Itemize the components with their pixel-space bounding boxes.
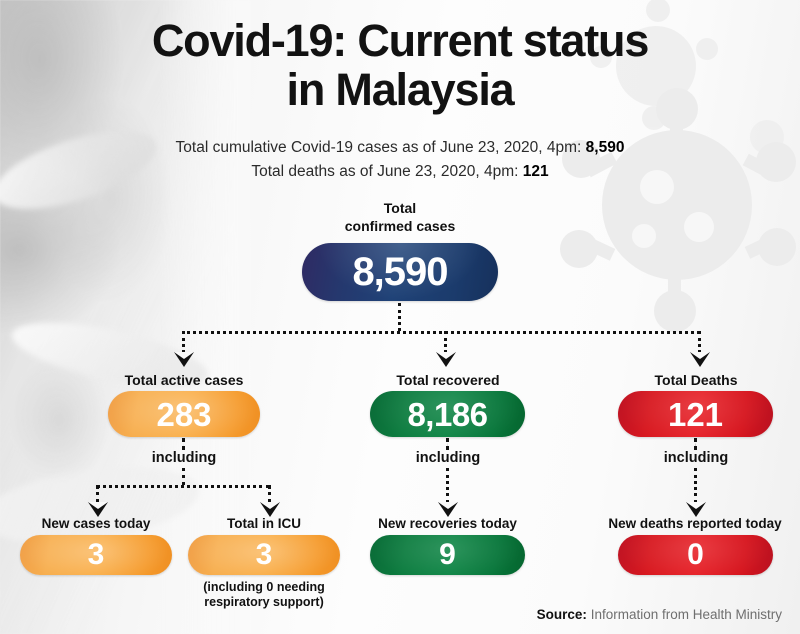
arrow-icu xyxy=(260,502,280,517)
total-confirmed-cases-caption-line-1: Total xyxy=(280,199,520,217)
new-cases-today-caption: New cases today xyxy=(20,516,172,531)
total-in-icu-note-line-2: respiratory support) xyxy=(184,595,344,610)
total-deaths-value: 121 xyxy=(668,398,723,431)
new-deaths-today-pill: 0 xyxy=(618,535,773,575)
connector-deaths-to-including xyxy=(694,438,697,450)
subtitle-line-2: Total deaths as of June 23, 2020, 4pm: 1… xyxy=(0,160,800,184)
active-including-label: including xyxy=(104,450,264,466)
total-in-icu-pill: 3 xyxy=(188,535,340,575)
total-recovered-value: 8,186 xyxy=(407,398,487,431)
arrow-new-cases xyxy=(88,502,108,517)
new-deaths-today-value: 0 xyxy=(687,540,704,570)
connector-active-stem xyxy=(182,468,185,485)
subtitle: Total cumulative Covid-19 cases as of Ju… xyxy=(0,136,800,184)
connector-root-horizontal xyxy=(182,331,700,334)
connector-new-cases-down xyxy=(96,485,99,503)
total-recovered-caption: Total recovered xyxy=(368,372,528,388)
page-title-line-2: in Malaysia xyxy=(0,65,800,114)
new-cases-today-value: 3 xyxy=(88,540,105,570)
connector-branch-recovered-down xyxy=(444,331,447,353)
new-recoveries-today-caption: New recoveries today xyxy=(370,516,525,531)
recovered-including-label: including xyxy=(368,450,528,466)
page-title-line-1: Covid-19: Current status xyxy=(0,16,800,65)
total-active-cases-caption: Total active cases xyxy=(104,372,264,388)
connector-new-recoveries-down xyxy=(446,468,449,503)
coronavirus-graphic-large xyxy=(572,100,792,320)
subtitle-line-2-value: 121 xyxy=(523,163,549,180)
connector-icu-down xyxy=(268,485,271,503)
connector-branch-active-down xyxy=(182,331,185,353)
connector-new-deaths-down xyxy=(694,468,697,503)
arrow-branch-deaths xyxy=(690,352,710,367)
new-cases-today-pill: 3 xyxy=(20,535,172,575)
arrow-new-recoveries xyxy=(438,502,458,517)
connector-branch-deaths-down xyxy=(698,331,701,353)
new-recoveries-today-pill: 9 xyxy=(370,535,525,575)
total-in-icu-value: 3 xyxy=(256,540,273,570)
total-confirmed-cases-value: 8,590 xyxy=(352,252,447,292)
connector-recovered-to-including xyxy=(446,438,449,450)
total-confirmed-cases-pill: 8,590 xyxy=(302,243,498,301)
total-in-icu-note-line-1: (including 0 needing xyxy=(184,580,344,595)
total-deaths-caption: Total Deaths xyxy=(616,372,776,388)
arrow-branch-recovered xyxy=(436,352,456,367)
total-deaths-pill: 121 xyxy=(618,391,773,437)
source-label: Source: xyxy=(537,607,587,622)
arrow-branch-active xyxy=(174,352,194,367)
subtitle-line-2-text: Total deaths as of June 23, 2020, 4pm: xyxy=(251,163,518,180)
subtitle-line-1: Total cumulative Covid-19 cases as of Ju… xyxy=(0,136,800,160)
total-confirmed-cases-caption-line-2: confirmed cases xyxy=(280,217,520,235)
covid-status-infographic: Covid-19: Current status in Malaysia Tot… xyxy=(0,0,800,634)
subtitle-line-1-text: Total cumulative Covid-19 cases as of Ju… xyxy=(176,139,582,156)
new-recoveries-today-value: 9 xyxy=(439,540,456,570)
arrow-new-deaths xyxy=(686,502,706,517)
connector-root-down xyxy=(398,303,401,331)
total-confirmed-cases-caption: Total confirmed cases xyxy=(280,199,520,235)
total-in-icu-caption: Total in ICU xyxy=(188,516,340,531)
connector-active-to-including xyxy=(182,438,185,450)
total-in-icu-note: (including 0 needing respiratory support… xyxy=(184,580,344,610)
source-text: Information from Health Ministry xyxy=(591,607,782,622)
total-active-cases-pill: 283 xyxy=(108,391,260,437)
deaths-including-label: including xyxy=(616,450,776,466)
connector-active-horizontal xyxy=(96,485,270,488)
new-deaths-today-caption: New deaths reported today xyxy=(590,516,800,531)
total-recovered-pill: 8,186 xyxy=(370,391,525,437)
page-title: Covid-19: Current status in Malaysia xyxy=(0,16,800,114)
subtitle-line-1-value: 8,590 xyxy=(586,139,625,156)
total-active-cases-value: 283 xyxy=(156,398,211,431)
source-footer: Source: Information from Health Ministry xyxy=(537,607,782,622)
